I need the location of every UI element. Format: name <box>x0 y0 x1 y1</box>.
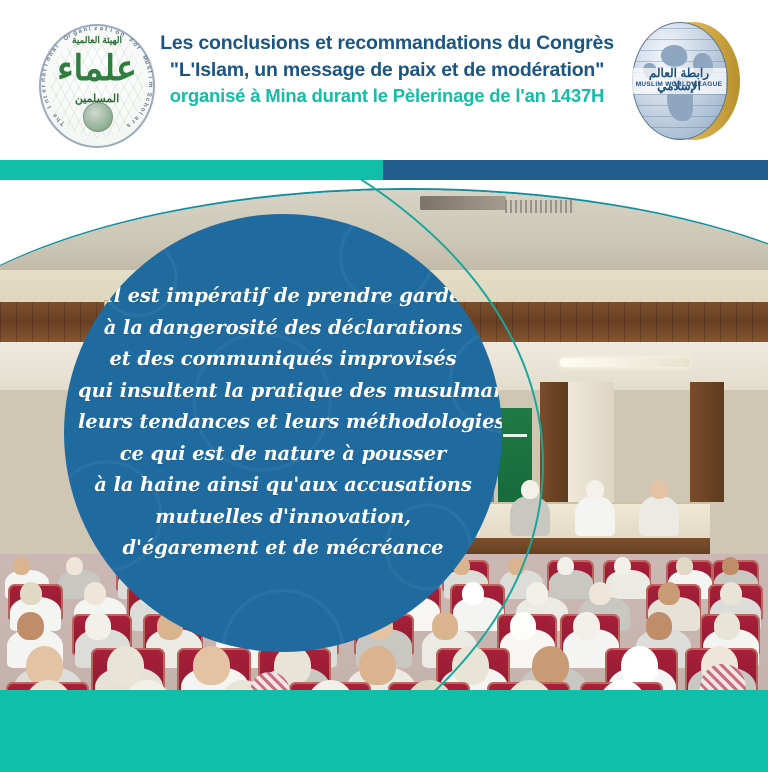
photo-pillar <box>690 382 724 502</box>
photo-person-head <box>720 582 742 605</box>
photo-person-head <box>26 646 63 685</box>
quote-line-3: et des communiqués improvisés <box>78 343 488 375</box>
photo-person-body <box>549 570 593 599</box>
photo-panelist <box>510 496 550 536</box>
title-line-2: "L'Islam, un message de paix et de modér… <box>152 57 622 84</box>
photo-person-head <box>573 612 599 640</box>
photo-light <box>560 358 690 367</box>
photo-person-head <box>722 557 739 575</box>
photo-ceiling-grille <box>505 200 575 213</box>
photo-person-head <box>650 480 668 499</box>
main-visual: وَاعْتَصِمُوا بِحَبْلِ <box>0 180 768 690</box>
quote-line-5: leurs tendances et leurs méthodologies, <box>78 406 488 438</box>
photo-person-head <box>526 582 548 605</box>
mwl-logo: رابطة العالم الإسلامي MUSLIM WORLD LEAGU… <box>630 20 740 142</box>
mwl-english-name: MUSLIM WORLD LEAGUE <box>630 81 728 88</box>
divider-teal-segment <box>0 160 383 180</box>
quote-text: Il est impératif de prendre gardeà la da… <box>78 280 488 564</box>
quote-line-9: d'égarement et de mécréance <box>78 532 488 564</box>
photo-person-head <box>614 557 631 575</box>
photo-ceiling-vent <box>420 196 506 210</box>
divider-bar <box>0 160 768 180</box>
photo-panelist <box>639 496 679 536</box>
page-title: Les conclusions et recommandations du Co… <box>152 30 622 110</box>
title-line-3: organisé à Mina durant le Pèlerinage de … <box>152 83 622 110</box>
quote-circle: Il est impératif de prendre gardeà la da… <box>64 214 502 652</box>
photo-person-head <box>557 557 574 575</box>
photo-person-head <box>714 612 740 640</box>
quote-line-1: Il est impératif de prendre garde <box>78 280 488 312</box>
photo-person-head <box>646 612 672 640</box>
photo-panelist <box>575 496 615 536</box>
iofms-logo: الهيئة العالمية علماء المسلمين The Inter… <box>33 18 161 146</box>
photo-person-head <box>17 612 43 640</box>
photo-person-body <box>606 570 650 599</box>
iofms-ring-text: The International Organization For Musli… <box>33 18 161 146</box>
quote-line-6: ce qui est de nature à pousser <box>78 438 488 470</box>
photo-person-head <box>586 480 604 499</box>
mwl-arabic-name: رابطة العالم الإسلامي <box>630 67 728 93</box>
photo-pillar <box>540 382 568 502</box>
photo-person-head <box>676 557 693 575</box>
photo-person-head <box>658 582 680 605</box>
quote-line-4: qui insultent la pratique des musulmans, <box>78 375 488 407</box>
quote-line-2: à la dangerosité des déclarations <box>78 312 488 344</box>
photo-person-head <box>510 612 536 640</box>
photo-person-head <box>13 557 30 575</box>
divider-blue-segment <box>383 160 768 180</box>
poster-canvas: الهيئة العالمية علماء المسلمين The Inter… <box>0 0 768 772</box>
photo-person-head <box>508 557 525 575</box>
quote-line-7: à la haine ainsi qu'aux accusations <box>78 469 488 501</box>
quote-line-8: mutuelles d'innovation, <box>78 501 488 533</box>
photo-person-head <box>532 646 569 685</box>
photo-person-head <box>521 480 539 499</box>
title-line-1: Les conclusions et recommandations du Co… <box>152 30 622 57</box>
photo-person-head <box>621 646 658 685</box>
photo-person-head <box>589 582 611 605</box>
social-footer: @mwlorg|@mwlorg_en|@mwlorg_fr /mwlorg /m… <box>0 690 768 772</box>
header-bar: الهيئة العالمية علماء المسلمين The Inter… <box>0 0 768 158</box>
photo-person-head <box>20 582 42 605</box>
